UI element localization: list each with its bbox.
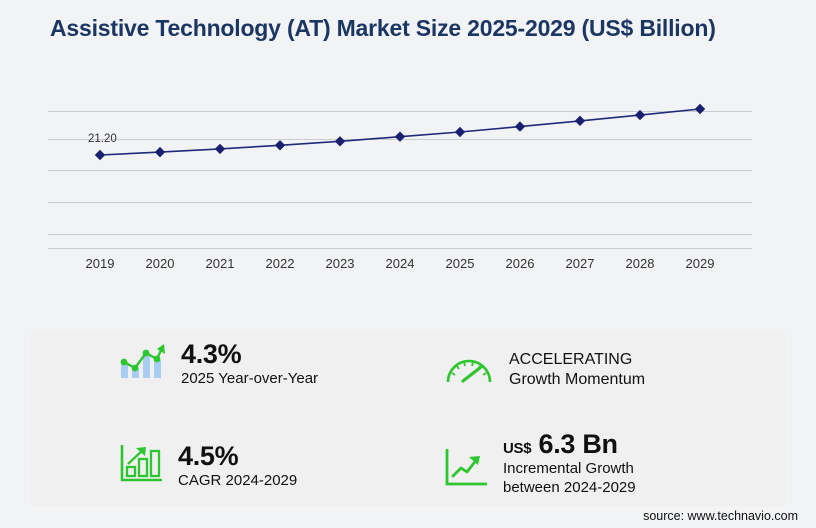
chart-plot-area	[48, 100, 752, 250]
stat-caption-line1: Incremental Growth	[503, 459, 636, 478]
x-axis-tick-2020: 2020	[130, 256, 190, 271]
x-axis-tick-2027: 2027	[550, 256, 610, 271]
stat-cagr: 4.5% CAGR 2024-2029	[118, 442, 297, 490]
stat-value: 4.5%	[178, 442, 297, 471]
x-axis-tick-2021: 2021	[190, 256, 250, 271]
stat-growth-momentum: ACCELERATING Growth Momentum	[443, 350, 645, 395]
gridline	[48, 139, 752, 140]
x-axis-line	[48, 248, 752, 249]
x-axis-tick-2028: 2028	[610, 256, 670, 271]
page-title: Assistive Technology (AT) Market Size 20…	[50, 14, 750, 43]
x-axis-tick-2024: 2024	[370, 256, 430, 271]
x-axis-tick-2029: 2029	[670, 256, 730, 271]
gridline	[48, 170, 752, 171]
gridline	[48, 111, 752, 112]
x-axis-tick-2019: 2019	[70, 256, 130, 271]
gridline	[48, 202, 752, 203]
stat-incremental-growth: US$ 6.3 Bn Incremental Growth between 20…	[443, 430, 636, 498]
x-axis-tick-2023: 2023	[310, 256, 370, 271]
stat-caption-line2: between 2024-2029	[503, 478, 636, 497]
stat-caption-line1: ACCELERATING	[509, 350, 645, 370]
x-axis-tick-2025: 2025	[430, 256, 490, 271]
speedometer-icon	[443, 350, 495, 395]
stat-unit: US$	[503, 440, 531, 457]
stat-value: US$ 6.3 Bn	[503, 430, 636, 459]
line-chart-arrow-icon	[443, 446, 489, 493]
stat-amount: 6.3 Bn	[538, 429, 617, 459]
data-label-2019: 21.20	[88, 133, 117, 145]
growth-bars-arrow-icon	[118, 442, 164, 489]
stat-year-over-year: 4.3% 2025 Year-over-Year	[115, 340, 318, 388]
stat-caption: 2025 Year-over-Year	[181, 369, 318, 388]
stat-caption: CAGR 2024-2029	[178, 471, 297, 490]
stat-value: 4.3%	[181, 340, 318, 369]
x-axis-tick-2026: 2026	[490, 256, 550, 271]
gridline	[48, 234, 752, 235]
source-note: source: www.technavio.com	[643, 509, 798, 523]
stat-caption-line2: Growth Momentum	[509, 370, 645, 390]
bar-chart-trend-up-icon	[115, 340, 167, 387]
x-axis-tick-2022: 2022	[250, 256, 310, 271]
